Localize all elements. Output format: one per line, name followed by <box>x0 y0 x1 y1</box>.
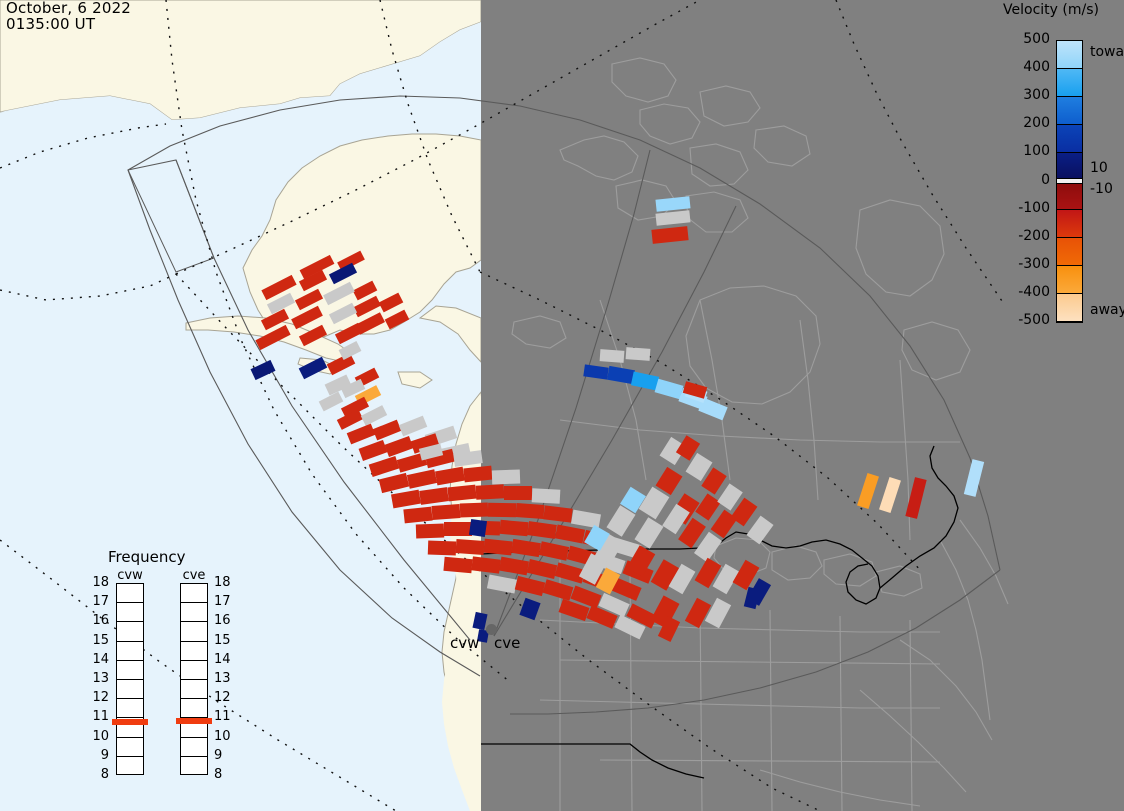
frequency-tick-cve-18: 18 <box>214 575 238 590</box>
velocity-cell <box>539 541 569 561</box>
velocity-cell <box>463 466 492 483</box>
colorbar-band--100-to--200 <box>1057 210 1082 238</box>
frequency-tick-cvw-10: 10 <box>85 729 109 744</box>
frequency-tick-cvw-8: 8 <box>85 767 109 782</box>
frequency-segment <box>181 699 207 718</box>
colorbar-band--200-to--300 <box>1057 238 1082 266</box>
colorbar-band-200-to-100 <box>1057 125 1082 153</box>
velocity-cell <box>656 467 683 495</box>
velocity-cell <box>571 510 601 529</box>
velocity-cell <box>499 520 528 536</box>
velocity-cell <box>634 517 663 549</box>
velocity-cell <box>532 488 561 503</box>
radar-site-label-cve: cve <box>494 634 520 652</box>
velocity-cell <box>295 289 323 311</box>
frequency-segment <box>181 661 207 680</box>
velocity-cell <box>964 459 984 497</box>
time-text: 0135:00 UT <box>6 15 95 33</box>
frequency-segment <box>181 757 207 776</box>
velocity-cell <box>456 539 485 555</box>
frequency-tick-cvw-16: 16 <box>85 613 109 628</box>
colorbar-tick--400: -400 <box>1004 284 1050 300</box>
frequency-tick-cvw-15: 15 <box>85 633 109 648</box>
velocity-cell <box>631 371 659 390</box>
frequency-tick-cvw-9: 9 <box>85 748 109 763</box>
velocity-cell <box>504 486 532 500</box>
colorbar-title: Velocity (m/s) <box>978 2 1124 18</box>
frequency-legend-title: Frequency <box>108 548 186 566</box>
colorbar-band--400-to--500 <box>1057 294 1082 322</box>
velocity-cell <box>476 484 505 499</box>
frequency-segment <box>181 584 207 603</box>
frequency-bar-header-cve: cve <box>171 568 217 583</box>
velocity-cell <box>385 436 414 457</box>
velocity-cell <box>359 440 388 461</box>
velocity-cell <box>527 521 557 539</box>
frequency-segment <box>181 603 207 622</box>
velocity-cell <box>492 470 520 485</box>
colorbar-band-100-to-10 <box>1057 153 1082 178</box>
colorbar-band-500-to-400 <box>1057 41 1082 69</box>
velocity-cell <box>432 504 461 520</box>
colorbar-band--10-to--100 <box>1057 184 1082 209</box>
velocity-cell <box>583 364 608 379</box>
velocity-cell <box>329 303 357 325</box>
velocity-cell <box>527 559 557 579</box>
velocity-cell <box>626 347 651 361</box>
velocity-cell <box>515 576 546 596</box>
frequency-segment <box>181 680 207 699</box>
frequency-segment <box>117 699 143 718</box>
velocity-cell <box>299 325 327 347</box>
velocity-cell <box>369 456 400 477</box>
velocity-cell <box>655 210 690 225</box>
velocity-cell <box>291 306 323 329</box>
colorbar-tick-400: 400 <box>1004 59 1050 75</box>
colorbar-tick-500: 500 <box>1004 31 1050 47</box>
velocity-cell <box>471 556 500 573</box>
colorbar-tick-0: 0 <box>1004 172 1050 188</box>
colorbar-tick--300: -300 <box>1004 256 1050 272</box>
velocity-cell <box>487 574 517 593</box>
velocity-cell <box>744 587 760 609</box>
frequency-tick-cve-8: 8 <box>214 767 238 782</box>
frequency-segment <box>117 603 143 622</box>
velocity-cell <box>443 557 472 573</box>
colorbar-band--300-to--400 <box>1057 266 1082 294</box>
frequency-segment <box>117 757 143 776</box>
colorbar-tick--200: -200 <box>1004 228 1050 244</box>
colorbar-negative-threshold-label: -10 <box>1090 181 1113 197</box>
frequency-tick-cvw-17: 17 <box>85 594 109 609</box>
frequency-segment <box>181 642 207 661</box>
colorbar-positive-threshold-label: 10 <box>1090 160 1108 176</box>
velocity-cell <box>695 493 721 520</box>
velocity-cell <box>746 516 773 545</box>
velocity-cell <box>299 357 328 379</box>
velocity-cell <box>379 293 404 313</box>
velocity-cell <box>447 485 476 502</box>
frequency-marker-cve <box>176 718 212 724</box>
velocity-cell <box>255 325 290 350</box>
velocity-colorbar[interactable] <box>1056 40 1083 323</box>
frequency-bar-header-cvw: cvw <box>107 568 153 583</box>
velocity-cell <box>879 477 901 513</box>
colorbar-band-300-to-200 <box>1057 97 1082 125</box>
frequency-tick-cvw-12: 12 <box>85 690 109 705</box>
frequency-segment <box>117 680 143 699</box>
frequency-tick-cvw-11: 11 <box>85 709 109 724</box>
frequency-tick-cve-13: 13 <box>214 671 238 686</box>
colorbar-toward-label: toward <box>1090 44 1124 60</box>
radar-site-label-cvw: cvw <box>450 634 479 652</box>
frequency-tick-cve-9: 9 <box>214 748 238 763</box>
frequency-segment <box>181 738 207 757</box>
frequency-tick-cve-15: 15 <box>214 633 238 648</box>
velocity-cell <box>705 598 731 628</box>
velocity-cell <box>543 505 572 522</box>
velocity-cell <box>385 310 410 330</box>
velocity-cell <box>483 539 512 556</box>
colorbar-tick-100: 100 <box>1004 143 1050 159</box>
velocity-cell <box>519 598 540 620</box>
velocity-cell <box>499 557 529 576</box>
velocity-cell <box>435 467 465 486</box>
colorbar-band-400-to-300 <box>1057 69 1082 97</box>
velocity-cell <box>444 522 472 536</box>
frequency-tick-cve-16: 16 <box>214 613 238 628</box>
frequency-bar-cvw[interactable] <box>116 583 144 775</box>
velocity-cell <box>379 473 410 493</box>
frequency-segment <box>117 642 143 661</box>
velocity-cell <box>403 507 432 524</box>
velocity-cell <box>416 524 444 539</box>
velocity-cell <box>323 282 355 305</box>
velocity-cell <box>250 360 275 380</box>
frequency-tick-cve-14: 14 <box>214 652 238 667</box>
colorbar-away-label: away <box>1090 302 1124 318</box>
frequency-tick-cvw-13: 13 <box>85 671 109 686</box>
velocity-cell <box>905 477 926 519</box>
velocity-cell <box>655 379 684 400</box>
frequency-tick-cvw-14: 14 <box>85 652 109 667</box>
velocity-cell <box>511 539 541 557</box>
velocity-cell <box>419 487 449 505</box>
frequency-segment <box>117 738 143 757</box>
velocity-cell <box>607 366 635 384</box>
velocity-cell <box>399 416 428 437</box>
colorbar-tick--100: -100 <box>1004 200 1050 216</box>
velocity-cell <box>516 503 545 519</box>
velocity-cell <box>639 487 670 520</box>
velocity-cells-layer <box>0 0 1124 811</box>
velocity-cell <box>391 490 421 509</box>
velocity-cell <box>469 519 487 537</box>
velocity-cell <box>685 598 711 628</box>
frequency-segment <box>117 661 143 680</box>
frequency-marker-cvw <box>112 719 148 725</box>
velocity-cell <box>543 579 574 601</box>
velocity-cell <box>655 196 690 211</box>
frequency-segment <box>117 622 143 641</box>
superdarn-fan-plot: cvw cve October, 6 20220135:00 UT Veloci… <box>0 0 1124 811</box>
colorbar-tick-200: 200 <box>1004 115 1050 131</box>
velocity-cell <box>347 424 376 445</box>
colorbar-tick-300: 300 <box>1004 87 1050 103</box>
velocity-cell <box>857 473 879 509</box>
velocity-cell <box>488 503 516 517</box>
frequency-tick-cve-10: 10 <box>214 729 238 744</box>
velocity-cell <box>600 349 625 363</box>
velocity-cell <box>407 469 437 489</box>
velocity-cell <box>651 226 688 244</box>
colorbar-tick--500: -500 <box>1004 312 1050 328</box>
velocity-cell <box>373 420 402 441</box>
timestamp-block: October, 6 20220135:00 UT <box>6 1 131 32</box>
velocity-cell <box>555 524 585 543</box>
frequency-tick-cve-17: 17 <box>214 594 238 609</box>
frequency-bar-cve[interactable] <box>180 583 208 775</box>
frequency-segment <box>181 622 207 641</box>
frequency-tick-cve-12: 12 <box>214 690 238 705</box>
velocity-cell <box>428 541 456 556</box>
velocity-cell <box>460 503 488 518</box>
frequency-tick-cvw-18: 18 <box>85 575 109 590</box>
frequency-tick-cve-11: 11 <box>214 709 238 724</box>
velocity-cell <box>335 323 363 345</box>
frequency-segment <box>117 584 143 603</box>
